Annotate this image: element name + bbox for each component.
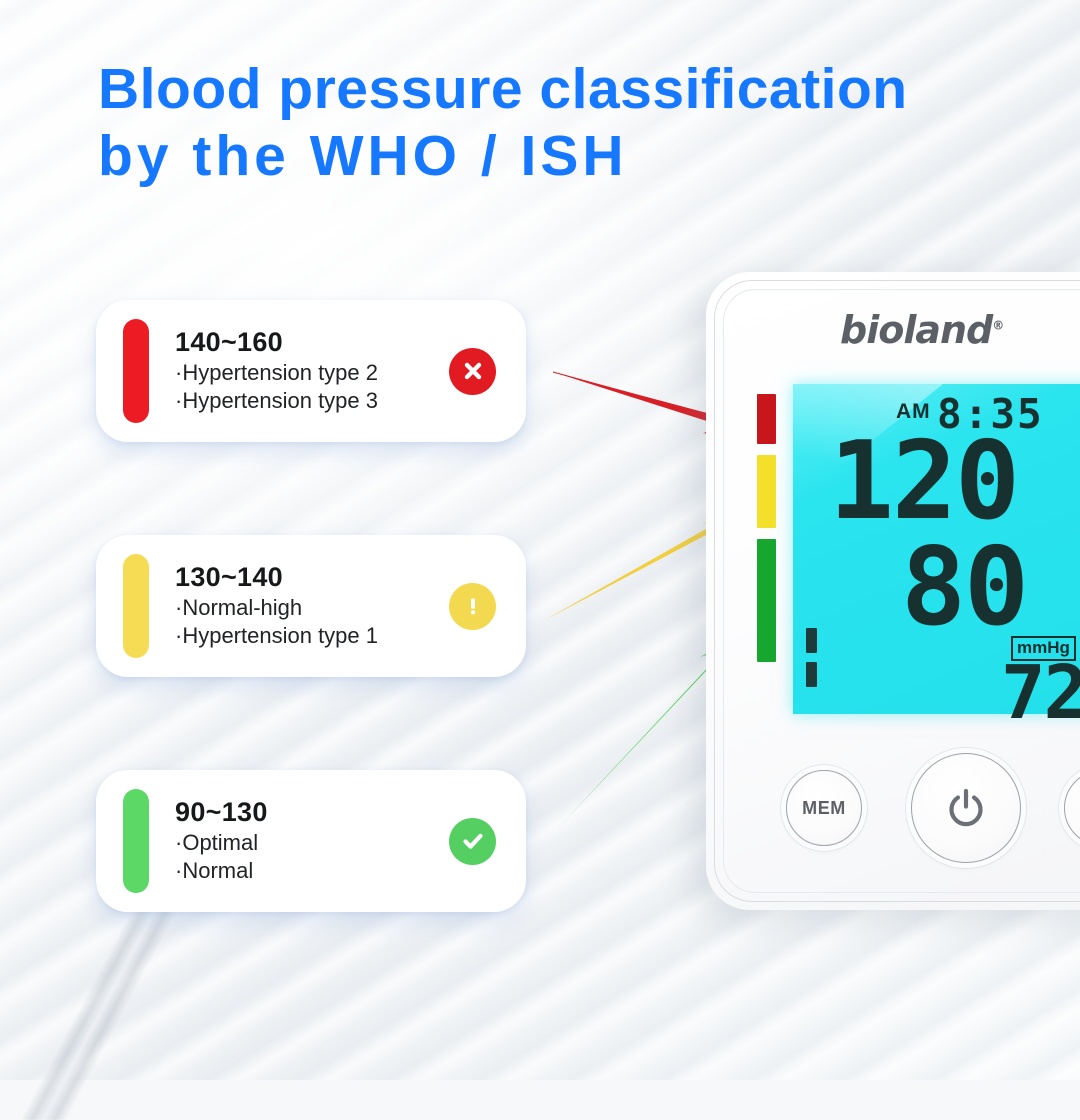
card-color-bar bbox=[123, 789, 149, 893]
page-title: Blood pressure classification by the WHO… bbox=[98, 56, 1018, 189]
device-indicator-yellow bbox=[757, 455, 776, 528]
card-range-label: 90~130 bbox=[175, 797, 449, 829]
status-badge-danger bbox=[449, 348, 496, 395]
classification-card-hypertension-high[interactable]: 140~160 ·Hypertension type 2 ·Hypertensi… bbox=[96, 300, 526, 442]
registered-trademark-icon: ® bbox=[992, 318, 1003, 332]
power-button[interactable] bbox=[911, 753, 1021, 863]
device-brand-logo: bioland® bbox=[840, 308, 1003, 352]
exclamation-icon bbox=[460, 593, 486, 619]
lcd-diastolic-value: 80 bbox=[901, 534, 1027, 642]
close-x-icon bbox=[460, 358, 486, 384]
mem-button-label: MEM bbox=[802, 798, 846, 819]
card-color-bar bbox=[123, 554, 149, 658]
status-badge-success bbox=[449, 818, 496, 865]
blood-pressure-monitor-device: bioland® AM 8:35 120 80 mmHg 72 1 MEM bbox=[706, 272, 1080, 910]
card-detail-line-1: ·Optimal bbox=[175, 829, 449, 857]
check-icon bbox=[459, 827, 487, 855]
page-title-line-1: Blood pressure classification bbox=[98, 56, 1018, 123]
card-text-block: 140~160 ·Hypertension type 2 ·Hypertensi… bbox=[175, 327, 449, 416]
lcd-classification-tick-upper bbox=[806, 628, 817, 653]
card-detail-line-2: ·Normal bbox=[175, 857, 449, 885]
lcd-classification-tick-lower bbox=[806, 662, 817, 687]
classification-card-optimal-normal[interactable]: 90~130 ·Optimal ·Normal bbox=[96, 770, 526, 912]
device-lcd-screen: AM 8:35 120 80 mmHg 72 1 bbox=[793, 384, 1080, 714]
mem-button[interactable]: MEM bbox=[786, 770, 862, 846]
device-brand-name: bioland bbox=[840, 308, 992, 352]
card-detail-line-2: ·Hypertension type 3 bbox=[175, 387, 449, 415]
device-indicator-green bbox=[757, 539, 776, 662]
card-range-label: 130~140 bbox=[175, 562, 449, 594]
card-detail-line-2: ·Hypertension type 1 bbox=[175, 622, 449, 650]
status-badge-warning bbox=[449, 583, 496, 630]
lcd-systolic-value: 120 bbox=[829, 428, 1018, 536]
lcd-pulse-value: 72 bbox=[1001, 656, 1080, 730]
power-icon bbox=[943, 785, 989, 831]
card-color-bar bbox=[123, 319, 149, 423]
card-text-block: 130~140 ·Normal-high ·Hypertension type … bbox=[175, 562, 449, 651]
classification-card-normal-high[interactable]: 130~140 ·Normal-high ·Hypertension type … bbox=[96, 535, 526, 677]
card-detail-line-1: ·Normal-high bbox=[175, 594, 449, 622]
card-range-label: 140~160 bbox=[175, 327, 449, 359]
card-text-block: 90~130 ·Optimal ·Normal bbox=[175, 797, 449, 886]
device-indicator-red bbox=[757, 394, 776, 444]
card-detail-line-1: ·Hypertension type 2 bbox=[175, 359, 449, 387]
page-title-line-2: by the WHO / ISH bbox=[98, 123, 1018, 190]
